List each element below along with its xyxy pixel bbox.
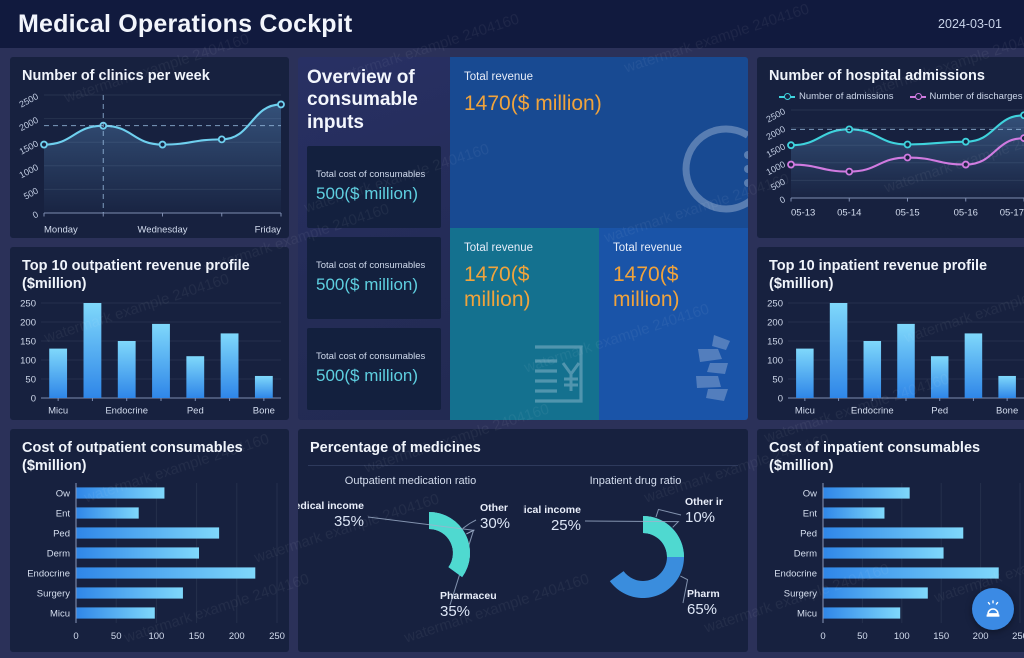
x-axis-tick-label: Endocrine xyxy=(851,406,894,417)
overview-consumable-inputs-section: Overview of consumable inputs Total cost… xyxy=(298,57,748,420)
total-revenue-tile[interactable]: Total revenue 1470($ million) xyxy=(599,228,748,420)
bar[interactable] xyxy=(49,349,67,398)
x-axis-tick-label: 150 xyxy=(933,631,949,642)
x-axis-tick-label: 150 xyxy=(189,631,205,642)
bar[interactable] xyxy=(823,548,944,559)
data-point[interactable] xyxy=(963,162,969,168)
y-axis-category-label: Endocrine xyxy=(27,569,70,580)
pie-slice-label: Medical income xyxy=(298,500,364,512)
donut-cell-outpatient: Other30%Pharmaceu35%Medical income35% xyxy=(298,487,523,642)
x-axis-tick-label: 05-15 xyxy=(895,208,919,219)
x-axis-tick-label: Micu xyxy=(48,406,68,417)
pie-slice-label: Other ir xyxy=(685,496,723,508)
bar[interactable] xyxy=(897,324,915,398)
panel-hospital-admissions: Number of hospital admissions Number of … xyxy=(757,57,1024,238)
y-axis-category-label: Ent xyxy=(803,509,818,520)
panel-title-admissions: Number of hospital admissions xyxy=(757,57,1024,87)
bar[interactable] xyxy=(76,548,199,559)
y-axis-category-label: Derm xyxy=(47,549,70,560)
y-axis-tick-label: 0 xyxy=(31,394,36,405)
x-axis-tick-label: Micu xyxy=(795,406,815,417)
inpatient-drug-donut: Other ir10%Pharm65%Medical income25% xyxy=(523,487,748,637)
panel-percentage-of-medicines: Percentage of medicines Outpatient medic… xyxy=(298,429,748,652)
coin-stack-icon xyxy=(680,333,738,412)
outpatient-medication-donut: Other30%Pharmaceu35%Medical income35% xyxy=(298,487,523,637)
data-point[interactable] xyxy=(41,142,47,148)
pie-leader-line xyxy=(656,510,681,518)
data-point[interactable] xyxy=(278,102,284,108)
consumable-cost-card[interactable]: Total cost of consumables 500($ million) xyxy=(307,237,441,319)
data-point[interactable] xyxy=(963,139,969,145)
bar[interactable] xyxy=(84,303,102,398)
bar[interactable] xyxy=(823,588,928,599)
total-revenue-value: 1470($ million) xyxy=(613,262,734,312)
y-axis-tick-label: 2000 xyxy=(18,115,40,133)
y-axis-category-label: Ow xyxy=(803,489,817,500)
donut-row: Other30%Pharmaceu35%Medical income35% Ot… xyxy=(298,487,748,642)
total-revenue-label: Total revenue xyxy=(464,71,734,83)
outpatient-cost-bar-chart: OwEntPedDermEndocrineSurgeryMicu05010015… xyxy=(10,477,289,645)
x-axis-tick-label: 250 xyxy=(1012,631,1024,642)
bar[interactable] xyxy=(830,303,848,398)
pie-slice-value: 25% xyxy=(551,517,581,534)
pie-slice-value: 65% xyxy=(687,601,717,618)
panel-title-clinics: Number of clinics per week xyxy=(10,57,289,87)
y-axis-tick-label: 250 xyxy=(20,299,36,310)
consumable-cost-label: Total cost of consumables xyxy=(316,351,432,362)
data-point[interactable] xyxy=(846,169,852,175)
panel-title-outpatient-cost: Cost of outpatient consumables ($million… xyxy=(10,429,289,477)
x-axis-tick-label: Ped xyxy=(931,406,948,417)
bar[interactable] xyxy=(221,334,239,399)
total-revenue-label: Total revenue xyxy=(613,242,734,254)
y-axis-tick-label: 100 xyxy=(20,356,36,367)
panel-title-medicines: Percentage of medicines xyxy=(298,429,748,459)
outpatient-revenue-bar-chart: 050100150200250MicuEndocrinePedBone xyxy=(10,295,289,418)
bar[interactable] xyxy=(965,334,983,399)
siren-alarm-button[interactable] xyxy=(972,588,1014,630)
admissions-legend: Number of admissions Number of discharge… xyxy=(757,87,1024,102)
x-axis-tick-label: 0 xyxy=(820,631,825,642)
consumable-cost-card[interactable]: Total cost of consumables 500($ million) xyxy=(307,328,441,410)
x-axis-tick-label: Bone xyxy=(996,406,1018,417)
bar[interactable] xyxy=(76,608,155,619)
bar[interactable] xyxy=(823,508,884,519)
panel-clinics-per-week: Number of clinics per week 0500100015002… xyxy=(10,57,289,238)
y-axis-category-label: Micu xyxy=(797,609,817,620)
y-axis-tick-label: 200 xyxy=(767,318,783,329)
bar[interactable] xyxy=(823,488,910,499)
app-header: Medical Operations Cockpit 2024-03-01 xyxy=(0,0,1024,48)
legend-item-discharges[interactable]: Number of discharges xyxy=(910,91,1023,102)
x-axis-tick-label: 100 xyxy=(148,631,164,642)
bar[interactable] xyxy=(864,341,882,398)
bar[interactable] xyxy=(152,324,170,398)
consumable-cost-value: 500($ million) xyxy=(316,366,432,386)
data-point[interactable] xyxy=(788,142,794,148)
pie-slice-value: 35% xyxy=(334,513,364,530)
x-axis-tick-label: 05-16 xyxy=(954,208,978,219)
donut-subtitle-outpatient: Outpatient medication ratio xyxy=(298,475,523,487)
y-axis-category-label: Micu xyxy=(50,609,70,620)
pie-leader-line xyxy=(463,520,476,528)
y-axis-category-label: Ped xyxy=(800,529,817,540)
y-axis-tick-label: 1000 xyxy=(18,162,40,180)
y-axis-tick-label: 500 xyxy=(769,177,787,193)
y-axis-tick-label: 0 xyxy=(31,209,40,220)
bar[interactable] xyxy=(796,349,814,398)
panel-title-inpatient-revenue: Top 10 inpatient revenue profile ($milli… xyxy=(757,247,1024,295)
y-axis-tick-label: 50 xyxy=(772,375,783,386)
y-axis-tick-label: 150 xyxy=(767,337,783,348)
panel-title-outpatient-revenue: Top 10 outpatient revenue profile ($mill… xyxy=(10,247,289,295)
total-revenue-value: 1470($ million) xyxy=(464,91,734,116)
total-revenue-tile[interactable]: Total revenue 1470($ million) xyxy=(450,228,599,420)
donut-subtitle-inpatient: Inpatient drug ratio xyxy=(523,475,748,487)
consumable-cost-label: Total cost of consumables xyxy=(316,169,432,180)
total-revenue-label: Total revenue xyxy=(464,242,585,254)
x-axis-tick-label: 200 xyxy=(973,631,989,642)
y-axis-tick-label: 1000 xyxy=(765,159,787,177)
x-axis-tick-label: 250 xyxy=(269,631,285,642)
pie-slice[interactable] xyxy=(429,512,470,577)
y-axis-tick-label: 2000 xyxy=(765,124,787,142)
total-revenue-tile[interactable]: Total revenue 1470($ million) xyxy=(450,57,748,228)
consumable-cost-value: 500($ million) xyxy=(316,275,432,295)
inpatient-revenue-bar-chart: 050100150200250MicuEndocrinePedBone xyxy=(757,295,1024,418)
x-axis-tick-label: 05-17 xyxy=(1000,208,1024,219)
x-axis-tick-label: 05-14 xyxy=(837,208,861,219)
y-axis-tick-label: 1500 xyxy=(765,142,787,160)
pie-slice-label: Medical income xyxy=(523,504,581,516)
donut-subtitles: Outpatient medication ratio Inpatient dr… xyxy=(298,466,748,487)
panel-title-inpatient-cost: Cost of inpatient consumables ($million) xyxy=(757,429,1024,477)
consumable-cost-label: Total cost of consumables xyxy=(316,260,432,271)
panel-inpatient-revenue: Top 10 inpatient revenue profile ($milli… xyxy=(757,247,1024,420)
y-axis-tick-label: 250 xyxy=(767,299,783,310)
y-axis-tick-label: 2500 xyxy=(18,91,40,109)
y-axis-tick-label: 2500 xyxy=(765,106,787,124)
y-axis-tick-label: 50 xyxy=(25,375,36,386)
x-axis-tick-label: Endocrine xyxy=(105,406,148,417)
y-axis-tick-label: 200 xyxy=(20,318,36,329)
bar[interactable] xyxy=(823,528,963,539)
y-axis-tick-label: 500 xyxy=(22,186,40,202)
bar[interactable] xyxy=(118,341,136,398)
x-axis-tick-label: Monday xyxy=(44,225,78,236)
yen-money-icon xyxy=(527,341,589,412)
legend-marker-discharges xyxy=(910,96,926,98)
dashboard-grid: Number of clinics per week 0500100015002… xyxy=(0,48,1024,658)
siren-alarm-icon xyxy=(982,598,1004,620)
legend-marker-admissions xyxy=(779,96,795,98)
panel-outpatient-consumables-cost: Cost of outpatient consumables ($million… xyxy=(10,429,289,652)
y-axis-category-label: Ent xyxy=(56,509,71,520)
bar[interactable] xyxy=(76,508,139,519)
consumable-cost-value: 500($ million) xyxy=(316,184,432,204)
y-axis-category-label: Derm xyxy=(794,549,817,560)
y-axis-category-label: Endocrine xyxy=(774,569,817,580)
donut-cell-inpatient: Other ir10%Pharm65%Medical income25% xyxy=(523,487,748,642)
y-axis-tick-label: 0 xyxy=(778,194,787,205)
overview-left-column: Overview of consumable inputs Total cost… xyxy=(298,57,450,420)
bar[interactable] xyxy=(823,568,999,579)
bar[interactable] xyxy=(76,588,183,599)
overview-right-column: Total revenue 1470($ million) Total reve… xyxy=(450,57,748,420)
header-date: 2024-03-01 xyxy=(938,17,1002,31)
y-axis-category-label: Surgery xyxy=(37,589,71,600)
y-axis-category-label: Surgery xyxy=(784,589,818,600)
data-point[interactable] xyxy=(219,136,225,142)
bar[interactable] xyxy=(186,356,204,398)
data-point[interactable] xyxy=(905,142,911,148)
legend-label-admissions: Number of admissions xyxy=(799,91,894,102)
total-revenue-value: 1470($ million) xyxy=(464,262,585,312)
bar[interactable] xyxy=(76,488,164,499)
x-axis-tick-label: 200 xyxy=(229,631,245,642)
clinics-line-chart: 05001000150020002500MondayWednesdayFrida… xyxy=(10,87,289,235)
overview-heading: Overview of consumable inputs xyxy=(307,67,441,134)
page-title: Medical Operations Cockpit xyxy=(18,10,352,39)
y-axis-category-label: Ped xyxy=(53,529,70,540)
series-area xyxy=(44,105,281,214)
bar[interactable] xyxy=(76,568,255,579)
x-axis-tick-label: 50 xyxy=(857,631,868,642)
legend-label-discharges: Number of discharges xyxy=(930,91,1023,102)
y-axis-tick-label: 150 xyxy=(20,337,36,348)
pie-slice-value: 30% xyxy=(480,515,510,532)
panel-inpatient-consumables-cost: Cost of inpatient consumables ($million)… xyxy=(757,429,1024,652)
data-point[interactable] xyxy=(905,155,911,161)
x-axis-tick-label: Friday xyxy=(255,225,282,236)
x-axis-tick-label: Wednesday xyxy=(138,225,188,236)
y-axis-tick-label: 100 xyxy=(767,356,783,367)
data-point[interactable] xyxy=(788,162,794,168)
x-axis-tick-label: 50 xyxy=(111,631,122,642)
bar[interactable] xyxy=(255,376,273,398)
bar[interactable] xyxy=(998,376,1016,398)
admissions-line-chart: 0500100015002000250005-1305-1405-1505-16… xyxy=(757,102,1024,218)
bar[interactable] xyxy=(931,356,949,398)
panel-outpatient-revenue: Top 10 outpatient revenue profile ($mill… xyxy=(10,247,289,420)
y-axis-tick-label: 0 xyxy=(778,394,783,405)
x-axis-tick-label: 100 xyxy=(894,631,910,642)
y-axis-tick-label: 1500 xyxy=(18,139,40,157)
x-axis-tick-label: Ped xyxy=(187,406,204,417)
bar[interactable] xyxy=(76,528,219,539)
gauge-icon xyxy=(678,121,748,222)
pie-slice-value: 35% xyxy=(440,603,470,620)
x-axis-tick-label: 0 xyxy=(73,631,78,642)
pie-slice-value: 10% xyxy=(685,509,715,526)
pie-slice-label: Pharmaceu xyxy=(440,590,497,602)
bar[interactable] xyxy=(823,608,900,619)
x-axis-tick-label: Bone xyxy=(253,406,275,417)
consumable-cost-card[interactable]: Total cost of consumables 500($ million) xyxy=(307,146,441,228)
y-axis-category-label: Ow xyxy=(56,489,70,500)
pie-slice-label: Other xyxy=(480,502,508,514)
pie-slice-label: Pharm xyxy=(687,588,720,600)
x-axis-tick-label: 05-13 xyxy=(791,208,815,219)
legend-item-admissions[interactable]: Number of admissions xyxy=(779,91,894,102)
data-point[interactable] xyxy=(160,142,166,148)
